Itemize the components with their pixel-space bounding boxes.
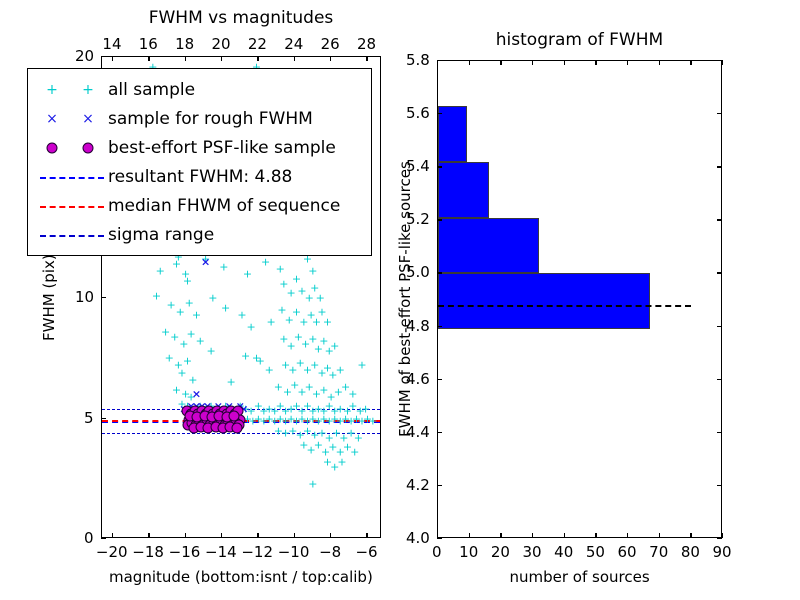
- y-tick-right: [437, 166, 442, 167]
- x-tick-label-bottom: −10: [278, 543, 310, 561]
- scatter-point-all: +: [265, 365, 274, 376]
- y-tick-right: [437, 60, 442, 61]
- x-tick-right-bottom: [500, 533, 501, 538]
- x-tick-right-bottom: [595, 533, 596, 538]
- scatter-point-all: +: [319, 384, 328, 395]
- scatter-point-all: +: [308, 333, 317, 344]
- x-tick-label-right: 0: [432, 543, 442, 561]
- dashdot-line-icon: [40, 235, 104, 237]
- scatter-point-all: +: [185, 297, 194, 308]
- scatter-point-all: +: [252, 353, 261, 364]
- x-tick-bottom: [294, 533, 295, 538]
- scatter-point-all: +: [165, 353, 174, 364]
- x-tick-label-top: 26: [321, 35, 340, 53]
- y-tick-label-right: 5.6: [406, 104, 430, 122]
- scatter-point-all: +: [308, 406, 317, 417]
- y-tick-left: [101, 538, 106, 539]
- histogram-bar: [438, 106, 467, 162]
- scatter-point-all: +: [299, 440, 308, 451]
- x-tick-right-bottom: [564, 533, 565, 538]
- x-tick-label-right: 10: [459, 543, 478, 561]
- scatter-point-all: +: [181, 389, 190, 400]
- scatter-point-all: +: [270, 406, 279, 417]
- scatter-point-psf: [182, 406, 193, 417]
- x-tick-right-bottom: [532, 533, 533, 538]
- scatter-point-psf: [197, 406, 208, 417]
- scatter-point-all: +: [305, 382, 314, 393]
- x-tick-label-right: 30: [523, 543, 542, 561]
- scatter-point-all: +: [221, 401, 230, 412]
- scatter-point-all: +: [172, 259, 181, 270]
- scatter-point-rough: ×: [214, 401, 223, 412]
- right-plot-data-area: [438, 61, 721, 537]
- scatter-point-all: +: [336, 447, 345, 458]
- right-plot-xlabel: number of sources: [510, 568, 650, 586]
- legend-item-2[interactable]: best-effort PSF-like sample: [36, 133, 361, 162]
- y-tick-left: [101, 297, 106, 298]
- x-tick-bottom: [112, 533, 113, 538]
- scatter-point-all: +: [276, 264, 285, 275]
- y-tick-right: [437, 326, 442, 327]
- histogram-bar: [438, 218, 539, 274]
- x-tick-bottom: [366, 533, 367, 538]
- y-tick-right-r: [717, 219, 722, 220]
- scatter-point-all: +: [297, 386, 306, 397]
- y-tick-right-r: [717, 113, 722, 114]
- scatter-point-all: +: [314, 440, 323, 451]
- scatter-point-all: +: [192, 309, 201, 320]
- legend-item-4[interactable]: median FHWM of sequence: [36, 191, 361, 220]
- x-tick-label-top: 16: [139, 35, 158, 53]
- scatter-point-rough: ×: [197, 401, 206, 412]
- x-tick-bottom: [148, 533, 149, 538]
- scatter-point-all: +: [279, 278, 288, 289]
- scatter-point-all: +: [319, 406, 328, 417]
- x-tick-label-bottom: −18: [132, 543, 164, 561]
- y-tick-label-right: 5.8: [406, 51, 430, 69]
- x-tick-label-top: 18: [175, 35, 194, 53]
- figure-canvas: ++++++++++++++++++++++++++++++++++++++++…: [0, 0, 800, 600]
- scatter-point-all: +: [281, 406, 290, 417]
- x-tick-top: [330, 56, 331, 61]
- x-tick-bottom: [257, 533, 258, 538]
- plus-icon: +: [46, 83, 58, 97]
- scatter-point-all: +: [310, 430, 319, 441]
- scatter-point-rough: ×: [192, 389, 201, 400]
- x-tick-label-right: 20: [491, 543, 510, 561]
- y-tick-right-r: [717, 326, 722, 327]
- y-tick-label-left: 5: [84, 409, 94, 427]
- scatter-point-all: +: [314, 343, 323, 354]
- right-plot-ylabel: FWHM of best-effort PSF-like sources: [396, 161, 414, 437]
- scatter-point-psf: [204, 406, 215, 417]
- scatter-point-all: +: [348, 401, 357, 412]
- x-tick-label-top: 28: [357, 35, 376, 53]
- scatter-point-all: +: [323, 362, 332, 373]
- y-tick-right-r: [717, 379, 722, 380]
- left-plot-ylabel: FWHM (pix): [40, 254, 58, 341]
- scatter-point-all: +: [297, 285, 306, 296]
- dot-icon: [83, 142, 94, 153]
- scatter-point-all: +: [303, 401, 312, 412]
- x-tick-right-top: [500, 60, 501, 65]
- y-tick-right-r: [717, 60, 722, 61]
- dashed-line-icon: [40, 206, 104, 208]
- y-tick-label-right: 4.2: [406, 476, 430, 494]
- scatter-point-all: +: [243, 268, 252, 279]
- x-tick-bottom: [330, 533, 331, 538]
- scatter-point-rough: ×: [203, 401, 212, 412]
- legend-item-1[interactable]: ××sample for rough FWHM: [36, 104, 361, 133]
- legend-item-0[interactable]: ++all sample: [36, 75, 361, 104]
- x-tick-right-top: [659, 60, 660, 65]
- x-tick-top: [112, 56, 113, 61]
- scatter-point-all: +: [330, 461, 339, 472]
- scatter-point-all: +: [259, 406, 268, 417]
- scatter-point-all: +: [286, 288, 295, 299]
- x-tick-right-top: [690, 60, 691, 65]
- x-tick-label-bottom: −12: [241, 543, 273, 561]
- y-tick-left: [101, 418, 106, 419]
- scatter-point-all: +: [321, 447, 330, 458]
- legend-marker-dashed-line: [36, 196, 108, 216]
- scatter-point-all: +: [297, 406, 306, 417]
- x-tick-label-top: 20: [212, 35, 231, 53]
- x-tick-label-right: 70: [649, 543, 668, 561]
- scatter-point-rough: ×: [201, 256, 210, 267]
- x-tick-right-bottom: [690, 533, 691, 538]
- scatter-point-all: +: [312, 317, 321, 328]
- y-tick-right: [437, 538, 442, 539]
- x-tick-bottom: [221, 533, 222, 538]
- scatter-point-all: +: [334, 386, 343, 397]
- x-tick-label-top: 22: [248, 35, 267, 53]
- scatter-point-all: +: [328, 370, 337, 381]
- x-tick-top: [148, 56, 149, 61]
- legend-item-3[interactable]: resultant FWHM: 4.88: [36, 162, 361, 191]
- reference-line-resultant-fwhm-hist: [438, 305, 691, 307]
- y-tick-right-r: [717, 166, 722, 167]
- scatter-point-all: +: [292, 273, 301, 284]
- scatter-point-all: +: [296, 430, 305, 441]
- scatter-point-all: +: [170, 331, 179, 342]
- plus-icon: +: [82, 83, 94, 97]
- y-tick-right: [437, 272, 442, 273]
- scatter-point-all: +: [208, 293, 217, 304]
- left-plot-title: FWHM vs magnitudes: [101, 8, 381, 28]
- scatter-point-all: +: [161, 326, 170, 337]
- x-tick-right-bottom: [659, 533, 660, 538]
- scatter-point-all: +: [308, 266, 317, 277]
- scatter-point-all: +: [219, 261, 228, 272]
- scatter-point-all: +: [221, 302, 230, 313]
- scatter-point-all: +: [261, 256, 270, 267]
- scatter-point-rough: ×: [192, 401, 201, 412]
- scatter-point-all: +: [188, 374, 197, 385]
- scatter-point-all: +: [312, 389, 321, 400]
- scatter-point-all: +: [328, 442, 337, 453]
- x-tick-right-top: [595, 60, 596, 65]
- scatter-point-all: +: [317, 367, 326, 378]
- x-tick-bottom: [185, 533, 186, 538]
- scatter-point-all: +: [330, 341, 339, 352]
- scatter-point-all: +: [306, 309, 315, 320]
- scatter-point-all: +: [256, 355, 265, 366]
- x-tick-right-top: [532, 60, 533, 65]
- cross-icon: ×: [82, 112, 94, 126]
- y-tick-right-r: [717, 272, 722, 273]
- scatter-point-all: +: [306, 444, 315, 455]
- x-tick-right-top: [564, 60, 565, 65]
- scatter-point-all: +: [156, 266, 165, 277]
- scatter-point-all: +: [246, 321, 255, 332]
- x-tick-label-right: 80: [681, 543, 700, 561]
- x-tick-right-top: [627, 60, 628, 65]
- legend-label: resultant FWHM: 4.88: [108, 167, 292, 187]
- scatter-point-all: +: [343, 406, 352, 417]
- scatter-point-all: +: [179, 338, 188, 349]
- scatter-point-all: +: [336, 365, 345, 376]
- scatter-point-psf: [233, 406, 244, 417]
- histogram-bar: [438, 273, 650, 329]
- scatter-point-all: +: [277, 305, 286, 316]
- scatter-point-all: +: [325, 346, 334, 357]
- scatter-point-psf: [211, 406, 222, 417]
- cross-icon: ×: [46, 112, 58, 126]
- scatter-point-all: +: [177, 367, 186, 378]
- plot-legend: ++all sample××sample for rough FWHMbest-…: [27, 68, 372, 256]
- x-tick-label-bottom: −16: [169, 543, 201, 561]
- y-tick-right-r: [717, 432, 722, 433]
- scatter-point-all: +: [308, 478, 317, 489]
- left-plot-xlabel: magnitude (bottom:isnt / top:calib): [109, 568, 373, 586]
- y-tick-label-left: 0: [84, 529, 94, 547]
- scatter-point-all: +: [183, 401, 192, 412]
- dashed-line-icon: [40, 177, 104, 179]
- legend-marker-plus: ++: [36, 80, 108, 100]
- scatter-point-all: +: [316, 293, 325, 304]
- scatter-point-all: +: [356, 406, 365, 417]
- y-tick-right-r: [717, 538, 722, 539]
- y-tick-right: [437, 379, 442, 380]
- scatter-point-all: +: [341, 382, 350, 393]
- scatter-point-all: +: [206, 346, 215, 357]
- x-tick-label-right: 50: [586, 543, 605, 561]
- histogram-bar: [438, 162, 489, 218]
- scatter-point-all: +: [285, 314, 294, 325]
- scatter-point-all: +: [317, 307, 326, 318]
- scatter-point-all: +: [172, 384, 181, 395]
- scatter-point-all: +: [166, 300, 175, 311]
- x-tick-right-bottom: [469, 533, 470, 538]
- x-tick-label-bottom: −8: [319, 543, 341, 561]
- x-tick-top: [294, 56, 295, 61]
- y-tick-left: [101, 56, 106, 57]
- x-tick-label-top: 24: [284, 35, 303, 53]
- y-tick-right: [437, 113, 442, 114]
- scatter-point-all: +: [310, 360, 319, 371]
- scatter-point-all: +: [323, 317, 332, 328]
- scatter-point-all: +: [343, 442, 352, 453]
- legend-marker-cross: ××: [36, 109, 108, 129]
- x-tick-right-top: [469, 60, 470, 65]
- x-tick-top: [221, 56, 222, 61]
- scatter-point-rough: ×: [225, 401, 234, 412]
- x-tick-label-top: 14: [102, 35, 121, 53]
- scatter-point-all: +: [326, 391, 335, 402]
- legend-marker-dot: [36, 138, 108, 158]
- legend-marker-dashdot-line: [36, 225, 108, 245]
- legend-item-5[interactable]: sigma range: [36, 220, 361, 249]
- legend-label: sample for rough FWHM: [108, 109, 313, 129]
- scatter-point-all: +: [183, 276, 192, 287]
- x-tick-label-right: 60: [618, 543, 637, 561]
- scatter-point-all: +: [237, 309, 246, 320]
- scatter-point-all: +: [337, 456, 346, 467]
- legend-label: sigma range: [108, 225, 214, 245]
- reference-line-sigma-range-lower: [102, 433, 380, 434]
- scatter-point-all: +: [196, 401, 205, 412]
- scatter-point-all: +: [181, 268, 190, 279]
- scatter-point-psf: [226, 406, 237, 417]
- scatter-point-all: +: [319, 336, 328, 347]
- y-tick-label-left: 20: [75, 47, 94, 65]
- dot-icon: [47, 142, 58, 153]
- scatter-point-psf: [189, 406, 200, 417]
- scatter-point-all: +: [303, 425, 312, 436]
- scatter-point-all: +: [357, 360, 366, 371]
- scatter-point-all: +: [241, 350, 250, 361]
- scatter-point-all: +: [299, 317, 308, 328]
- x-tick-top: [185, 56, 186, 61]
- scatter-point-all: +: [330, 406, 339, 417]
- scatter-point-all: +: [281, 360, 290, 371]
- scatter-point-all: +: [296, 358, 305, 369]
- scatter-point-all: +: [279, 333, 288, 344]
- right-plot-title: histogram of FWHM: [437, 30, 722, 50]
- scatter-point-all: +: [292, 401, 301, 412]
- y-tick-right: [437, 432, 442, 433]
- scatter-point-all: +: [276, 401, 285, 412]
- scatter-point-all: +: [292, 307, 301, 318]
- scatter-point-all: +: [274, 425, 283, 436]
- legend-label: median FHWM of sequence: [108, 196, 340, 216]
- scatter-point-all: +: [323, 456, 332, 467]
- y-tick-label-left: 10: [75, 288, 94, 306]
- scatter-point-all: +: [266, 317, 275, 328]
- scatter-point-all: +: [196, 336, 205, 347]
- scatter-point-all: +: [288, 425, 297, 436]
- x-tick-label-right: 40: [554, 543, 573, 561]
- scatter-point-all: +: [290, 379, 299, 390]
- scatter-point-all: +: [310, 283, 319, 294]
- x-tick-label-bottom: −20: [96, 543, 128, 561]
- scatter-point-all: +: [283, 386, 292, 397]
- scatter-point-all: +: [246, 406, 255, 417]
- x-tick-top: [257, 56, 258, 61]
- scatter-point-all: +: [274, 382, 283, 393]
- scatter-point-all: +: [325, 401, 334, 412]
- x-tick-label-right: 90: [713, 543, 732, 561]
- x-tick-label-bottom: −6: [355, 543, 377, 561]
- x-tick-label-bottom: −14: [205, 543, 237, 561]
- scatter-point-all: +: [176, 307, 185, 318]
- scatter-point-psf: [218, 406, 229, 417]
- scatter-point-all: +: [183, 355, 192, 366]
- scatter-point-all: +: [226, 377, 235, 388]
- scatter-point-all: +: [348, 389, 357, 400]
- legend-marker-dashed-line: [36, 167, 108, 187]
- scatter-point-all: +: [301, 338, 310, 349]
- scatter-point-rough: ×: [236, 401, 245, 412]
- x-tick-right-bottom: [627, 533, 628, 538]
- y-tick-right-r: [717, 485, 722, 486]
- scatter-point-rough: ×: [186, 401, 195, 412]
- scatter-point-all: +: [350, 447, 359, 458]
- y-tick-label-right: 4.0: [406, 529, 430, 547]
- scatter-point-all: +: [186, 329, 195, 340]
- scatter-point-all: +: [286, 341, 295, 352]
- legend-label: best-effort PSF-like sample: [108, 138, 336, 158]
- scatter-point-all: +: [288, 365, 297, 376]
- y-tick-right: [437, 485, 442, 486]
- scatter-point-all: +: [303, 365, 312, 376]
- reference-line-median-fhwm-of-sequence: [102, 420, 380, 422]
- scatter-point-all: +: [152, 290, 161, 301]
- scatter-point-all: +: [206, 401, 215, 412]
- scatter-point-all: +: [254, 401, 263, 412]
- x-tick-right-bottom: [722, 533, 723, 538]
- scatter-point-all: +: [174, 360, 183, 371]
- scatter-point-all: +: [186, 391, 195, 402]
- legend-label: all sample: [108, 80, 195, 100]
- x-tick-right-top: [722, 60, 723, 65]
- x-tick-top: [366, 56, 367, 61]
- scatter-point-all: +: [305, 293, 314, 304]
- y-tick-right: [437, 219, 442, 220]
- reference-line-sigma-range-upper: [102, 409, 380, 410]
- scatter-point-all: +: [236, 401, 245, 412]
- scatter-point-all: +: [294, 331, 303, 342]
